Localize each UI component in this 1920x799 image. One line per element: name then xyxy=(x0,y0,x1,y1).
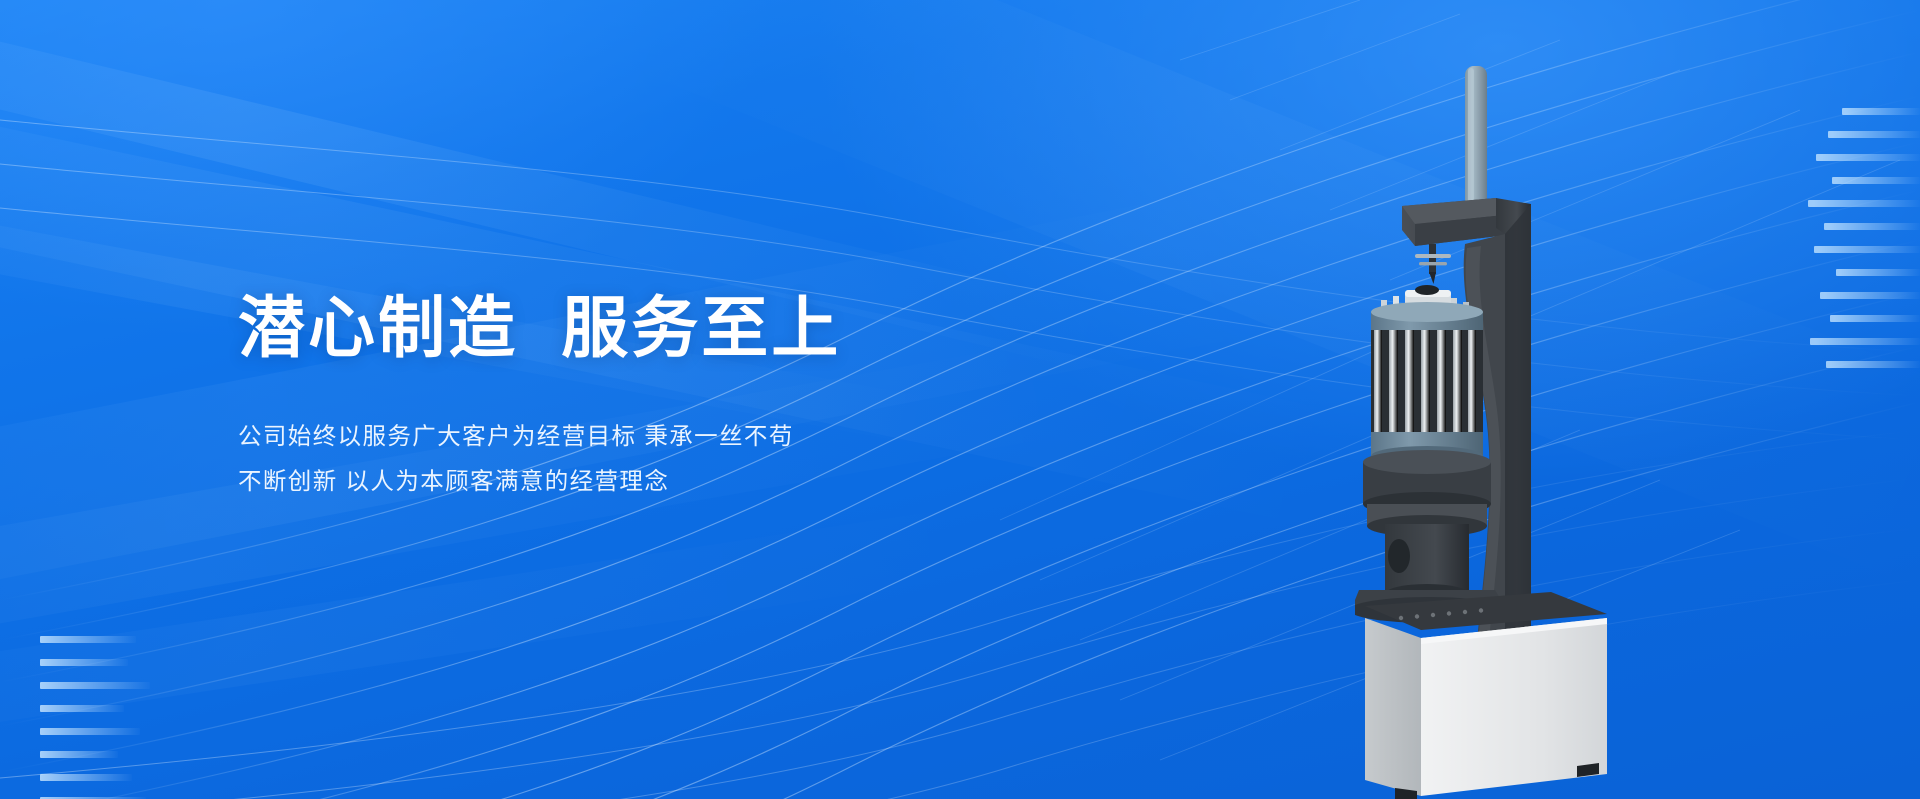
banner-headline: 潜心制造 服务至上 xyxy=(238,295,1018,362)
tick-bar xyxy=(40,751,118,758)
tick-bar xyxy=(1810,338,1920,345)
vertical-ram-rod xyxy=(1465,66,1487,211)
banner-subtitle-line-1: 公司始终以服务广大客户为经营目标 秉承一丝不苟 xyxy=(238,414,1018,459)
cabinet-base xyxy=(1365,592,1607,799)
banner-subtitle: 公司始终以服务广大客户为经营目标 秉承一丝不苟 不断创新 以人为本顾客满意的经营… xyxy=(238,414,1018,504)
tick-bar xyxy=(1808,200,1920,207)
coil-cage-assembly xyxy=(1371,285,1483,466)
hero-banner: 潜心制造 服务至上 公司始终以服务广大客户为经营目标 秉承一丝不苟 不断创新 以… xyxy=(0,0,1920,799)
tick-bar xyxy=(1814,246,1920,253)
tick-bar xyxy=(1828,131,1920,138)
tick-bar xyxy=(1820,292,1920,299)
product-machine-image xyxy=(1355,58,1655,799)
tick-bar xyxy=(40,682,150,689)
tick-bar xyxy=(40,728,140,735)
tick-bar xyxy=(1824,223,1920,230)
tick-bar xyxy=(1830,315,1920,322)
tick-bar xyxy=(1826,361,1920,368)
left-edge-tick-bars xyxy=(40,636,160,799)
right-edge-tick-bars xyxy=(1800,108,1920,368)
tick-bar xyxy=(1816,154,1920,161)
tick-bar xyxy=(1836,269,1920,276)
tick-bar xyxy=(40,659,128,666)
banner-subtitle-line-2: 不断创新 以人为本顾客满意的经营理念 xyxy=(238,459,1018,504)
banner-copy: 潜心制造 服务至上 公司始终以服务广大客户为经营目标 秉承一丝不苟 不断创新 以… xyxy=(238,295,1018,504)
tick-bar xyxy=(40,636,136,643)
tick-bar xyxy=(1842,108,1920,115)
tick-bar xyxy=(1832,177,1920,184)
tick-bar xyxy=(40,774,132,781)
tick-bar xyxy=(40,705,124,712)
